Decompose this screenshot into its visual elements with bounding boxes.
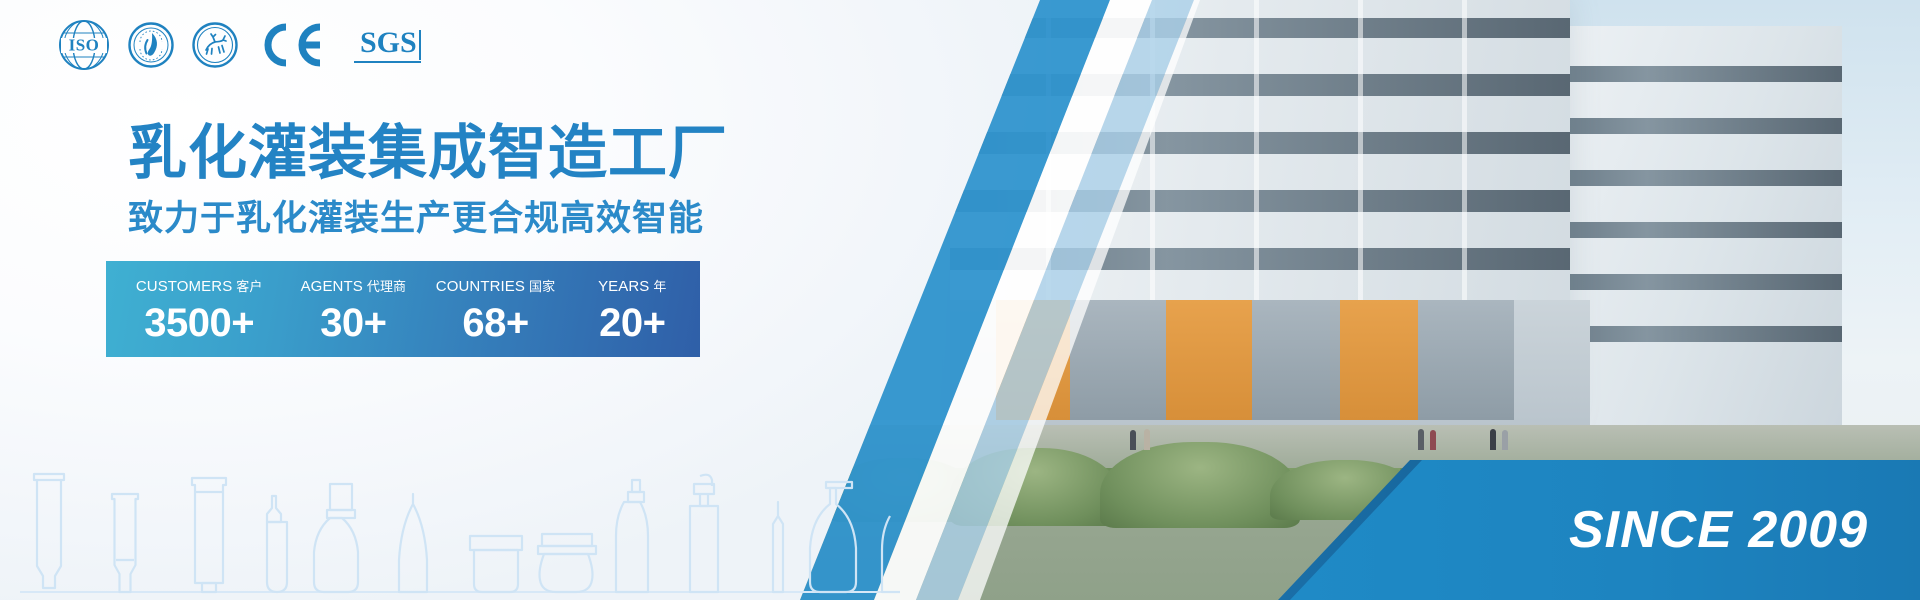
stat-label: YEARS 年 bbox=[598, 279, 666, 294]
stat-value: 68+ bbox=[462, 303, 528, 343]
sgs-underline bbox=[354, 61, 421, 63]
certification-logo-row: ISO bbox=[58, 14, 421, 76]
pedestrian bbox=[1430, 430, 1436, 450]
stat-value: 20+ bbox=[599, 303, 665, 343]
subheadline: 致力于乳化灌装生产更合规高效智能 bbox=[128, 198, 704, 240]
since-label: SINCE 2009 bbox=[1569, 504, 1868, 556]
stat-agents: AGENTS 代理商 30+ bbox=[286, 261, 420, 357]
stats-box: CUSTOMERS 客户 3500+ AGENTS 代理商 30+ COUNTR… bbox=[106, 261, 700, 357]
stat-years: YEARS 年 20+ bbox=[571, 261, 694, 357]
left-content-panel: ISO bbox=[0, 0, 1060, 600]
promo-banner: SINCE 2009 ISO bbox=[0, 0, 1920, 600]
packaging-silhouettes bbox=[0, 450, 900, 600]
stat-label-cn: 国家 bbox=[529, 280, 555, 293]
iso-logo-icon: ISO bbox=[58, 19, 110, 71]
svg-text:ISO: ISO bbox=[69, 36, 100, 55]
stat-label: CUSTOMERS 客户 bbox=[136, 279, 263, 294]
stat-label-cn: 代理商 bbox=[367, 280, 406, 293]
ce-mark-icon bbox=[262, 22, 324, 68]
stat-customers: CUSTOMERS 客户 3500+ bbox=[112, 261, 286, 357]
pedestrian bbox=[1502, 430, 1508, 450]
pedestrian bbox=[1490, 429, 1496, 450]
stat-countries: COUNTRIES 国家 68+ bbox=[420, 261, 570, 357]
stat-label-cn: 客户 bbox=[236, 280, 262, 293]
stat-value: 30+ bbox=[320, 303, 386, 343]
pedestrian bbox=[1418, 429, 1424, 450]
sgs-logo: SGS bbox=[354, 28, 421, 63]
stat-label-en: AGENTS bbox=[301, 279, 363, 294]
sgs-tick bbox=[419, 30, 421, 60]
headline: 乳化灌装集成智造工厂 bbox=[128, 120, 728, 186]
stat-value: 3500+ bbox=[144, 303, 254, 343]
stat-label: AGENTS 代理商 bbox=[301, 279, 407, 294]
stat-label-cn: 年 bbox=[653, 280, 666, 293]
sgs-label: SGS bbox=[360, 28, 417, 58]
stat-label-en: CUSTOMERS bbox=[136, 279, 232, 294]
stat-label: COUNTRIES 国家 bbox=[436, 279, 555, 294]
certification-badge-flame-icon bbox=[128, 22, 174, 68]
stat-label-en: COUNTRIES bbox=[436, 279, 525, 294]
stat-label-en: YEARS bbox=[598, 279, 649, 294]
certification-badge-deer-icon bbox=[192, 22, 238, 68]
